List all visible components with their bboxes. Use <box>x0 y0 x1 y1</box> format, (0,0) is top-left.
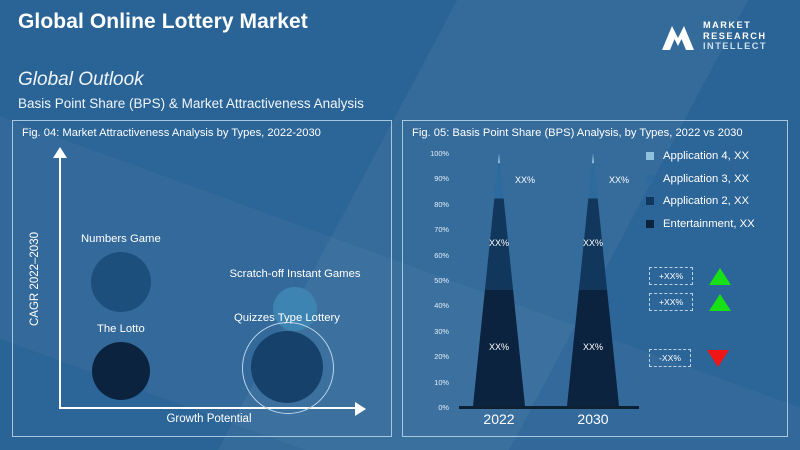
chart-baseline <box>459 406 639 409</box>
cone-value-label: XX% <box>469 238 529 248</box>
brand-line-1: MARKET <box>703 20 767 31</box>
legend-item[interactable]: Application 4, XX <box>646 145 755 168</box>
legend-item[interactable]: Application 2, XX <box>646 190 755 213</box>
bps-cone-chart: 100%90%80%70%60%50%40%30%20%10%0% XX%XX%… <box>403 121 787 436</box>
brand-line-3: INTELLECT <box>703 41 767 52</box>
bps-analysis-panel: Fig. 05: Basis Point Share (BPS) Analysi… <box>402 120 788 437</box>
delta-badge[interactable]: -XX% <box>649 349 691 367</box>
legend-swatch <box>646 220 654 228</box>
y-axis-tick: 0% <box>415 403 449 412</box>
chart-legend: Application 4, XXApplication 3, XXApplic… <box>646 145 755 235</box>
attractiveness-matrix: CAGR 2022–2030 Growth Potential Numbers … <box>13 121 391 436</box>
brand-logo-text: MARKET RESEARCH INTELLECT <box>703 20 767 52</box>
y-axis-tick: 40% <box>415 301 449 310</box>
cone-value-label: XX% <box>563 342 623 352</box>
legend-swatch <box>646 197 654 205</box>
x-axis-label: Growth Potential <box>59 413 359 425</box>
y-axis-tick: 30% <box>415 327 449 336</box>
y-axis-tick: 10% <box>415 378 449 387</box>
cone-value-label: XX% <box>563 238 623 248</box>
brand-line-2: RESEARCH <box>703 31 767 42</box>
bubble-1[interactable] <box>91 252 151 312</box>
page-title: Global Online Lottery Market <box>18 10 308 34</box>
bubble-label: Quizzes Type Lottery <box>234 312 340 324</box>
legend-label: Application 2, XX <box>663 195 749 207</box>
y-axis-tick: 100% <box>415 149 449 158</box>
cone-segment <box>498 153 500 163</box>
cone-2022[interactable] <box>471 153 527 408</box>
x-axis-line <box>59 407 359 409</box>
legend-label: Application 3, XX <box>663 173 749 185</box>
section-description: Basis Point Share (BPS) & Market Attract… <box>18 96 364 111</box>
cone-2030[interactable] <box>565 153 621 408</box>
bubble-3[interactable] <box>92 342 150 400</box>
section-subtitle: Global Outlook <box>18 69 144 91</box>
y-axis-label: CAGR 2022–2030 <box>29 219 41 339</box>
legend-swatch <box>646 152 654 160</box>
delta-annotation: -XX% <box>649 349 729 367</box>
page-header: Global Online Lottery Market Global Outl… <box>0 0 800 118</box>
bubble-4[interactable] <box>251 331 323 403</box>
legend-item[interactable]: Application 3, XX <box>646 168 755 191</box>
legend-label: Application 4, XX <box>663 150 749 162</box>
cone-value-label: XX% <box>495 175 555 185</box>
bubble-label: Scratch-off Instant Games <box>230 268 361 280</box>
arrow-up-icon <box>709 294 731 311</box>
arrow-up-icon <box>709 268 731 285</box>
bubble-label: Numbers Game <box>81 233 161 245</box>
y-axis-line <box>59 155 61 409</box>
delta-badge[interactable]: +XX% <box>649 267 693 285</box>
cone-value-label: XX% <box>589 175 649 185</box>
arrow-down-icon <box>707 350 729 367</box>
y-axis-arrow-icon <box>53 147 67 158</box>
y-axis-tick: 60% <box>415 251 449 260</box>
y-axis-tick: 20% <box>415 352 449 361</box>
legend-swatch <box>646 175 654 183</box>
mountain-m-icon <box>660 20 696 52</box>
x-axis-tick: 2030 <box>558 411 628 427</box>
cone-segment <box>592 153 594 163</box>
market-attractiveness-panel: Fig. 04: Market Attractiveness Analysis … <box>12 120 392 437</box>
delta-annotation: +XX% <box>649 267 731 285</box>
y-axis-tick: 90% <box>415 174 449 183</box>
y-axis-tick: 70% <box>415 225 449 234</box>
legend-label: Entertainment, XX <box>663 218 755 230</box>
brand-logo: MARKET RESEARCH INTELLECT <box>660 14 786 58</box>
y-axis-tick: 50% <box>415 276 449 285</box>
legend-item[interactable]: Entertainment, XX <box>646 213 755 236</box>
delta-badge[interactable]: +XX% <box>649 293 693 311</box>
y-axis-tick: 80% <box>415 200 449 209</box>
delta-annotation: +XX% <box>649 293 731 311</box>
x-axis-tick: 2022 <box>464 411 534 427</box>
bubble-label: The Lotto <box>97 323 145 335</box>
cone-value-label: XX% <box>469 342 529 352</box>
